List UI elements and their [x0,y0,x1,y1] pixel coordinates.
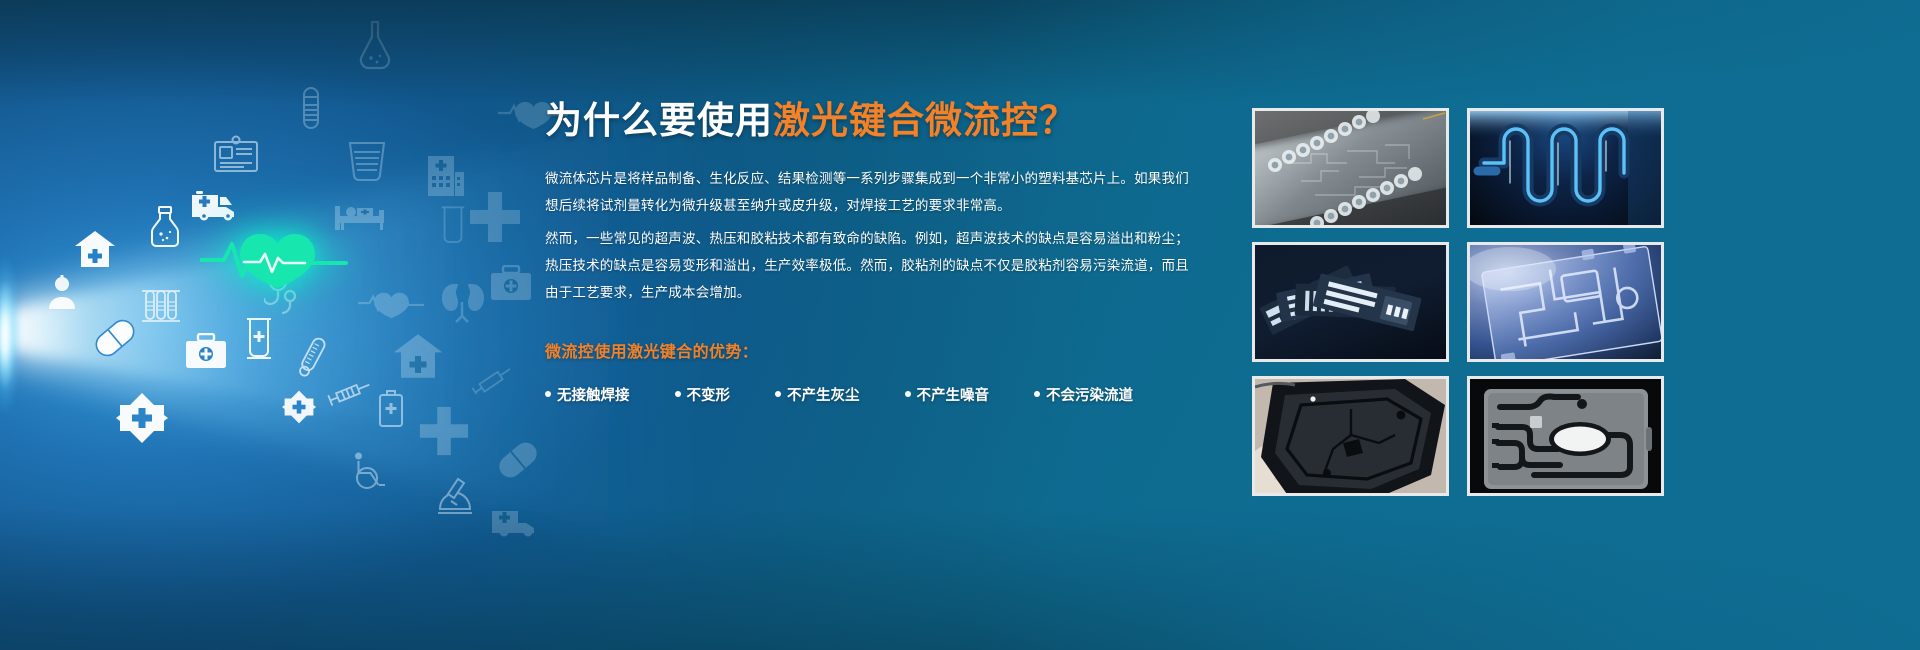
bullet-icon [545,391,551,397]
test-tube-rack-icon [140,288,182,324]
benefit-item: 不会污染流道 [1034,384,1133,405]
benefit-label: 不产生灰尘 [787,384,860,405]
cross-icon [468,190,522,244]
battery-cross-icon [378,390,404,428]
title-highlight: 激光键合微流控？ [773,100,1077,141]
benefit-item: 不产生灰尘 [775,384,860,405]
house-cross-icon [392,333,444,379]
benefit-label: 无接触焊接 [557,384,630,405]
microscope-icon [435,475,475,517]
thermometer-icon [295,335,329,379]
first-aid-kit-icon [490,265,532,301]
cross-badge-icon [116,392,168,444]
capsule-icon [495,440,541,480]
title-plain: 为什么要使用 [545,100,773,141]
id-badge-icon [213,133,259,173]
syringe-icon [470,368,516,394]
cross-icon [418,405,470,457]
wheelchair-icon [352,450,388,490]
gallery-image-4[interactable] [1467,242,1664,362]
syringe-icon [327,380,373,406]
iv-bag-icon [243,317,275,363]
doctor-icon [46,275,78,311]
bullet-icon [1034,391,1040,397]
paragraph-1: 微流体芯片是将样品制备、生化反应、结果检测等一系列步骤集成到一个非常小的塑料基芯… [545,165,1195,219]
first-aid-kit-icon [185,333,227,369]
gallery-image-1[interactable] [1252,108,1449,228]
capsule-icon [92,318,138,358]
hero-content: 为什么要使用激光键合微流控？ 微流体芯片是将样品制备、生化反应、结果检测等一系列… [545,100,1195,405]
flask-icon [356,18,394,70]
gallery-image-6[interactable] [1467,376,1664,496]
paragraph-2: 然而，一些常见的超声波、热压和胶粘技术都有致命的缺陷。例如，超声波技术的缺点是容… [545,225,1195,306]
hospital-building-icon [422,150,470,198]
benefit-label: 不变形 [687,384,731,405]
benefit-label: 不会污染流道 [1046,384,1133,405]
test-tube-icon [300,85,322,133]
gallery-image-5[interactable] [1252,376,1449,496]
kidneys-icon [440,282,486,324]
bullet-icon [775,391,781,397]
benefits-list: 无接触焊接 不变形 不产生灰尘 不产生噪音 不会污染流道 [545,384,1195,405]
gallery-image-2[interactable] [1467,108,1664,228]
bullet-icon [675,391,681,397]
hero-banner: 为什么要使用激光键合微流控？ 微流体芯片是将样品制备、生化反应、结果检测等一系列… [0,0,1920,650]
medicine-bottle-icon [150,205,180,249]
beaker-icon [347,140,387,182]
cross-badge-icon [282,390,316,424]
product-image-gallery [1252,108,1664,496]
benefit-label: 不产生噪音 [917,384,990,405]
heart-pulse-icon [358,288,426,320]
gallery-image-3[interactable] [1252,242,1449,362]
beam-origin-glow [0,255,22,415]
heart-pulse-icon [200,220,320,310]
ambulance-icon [190,189,242,221]
body-paragraphs: 微流体芯片是将样品制备、生化反应、结果检测等一系列步骤集成到一个非常小的塑料基芯… [545,165,1195,306]
benefit-item: 不产生噪音 [905,384,990,405]
benefits-subheading: 微流控使用激光键合的优势： [545,338,1195,362]
ambulance-icon [490,505,542,537]
iv-bag-icon [438,205,468,249]
bullet-icon [905,391,911,397]
benefit-item: 不变形 [675,384,731,405]
benefit-item: 无接触焊接 [545,384,630,405]
house-cross-icon [74,230,116,268]
page-title: 为什么要使用激光键合微流控？ [545,100,1195,143]
